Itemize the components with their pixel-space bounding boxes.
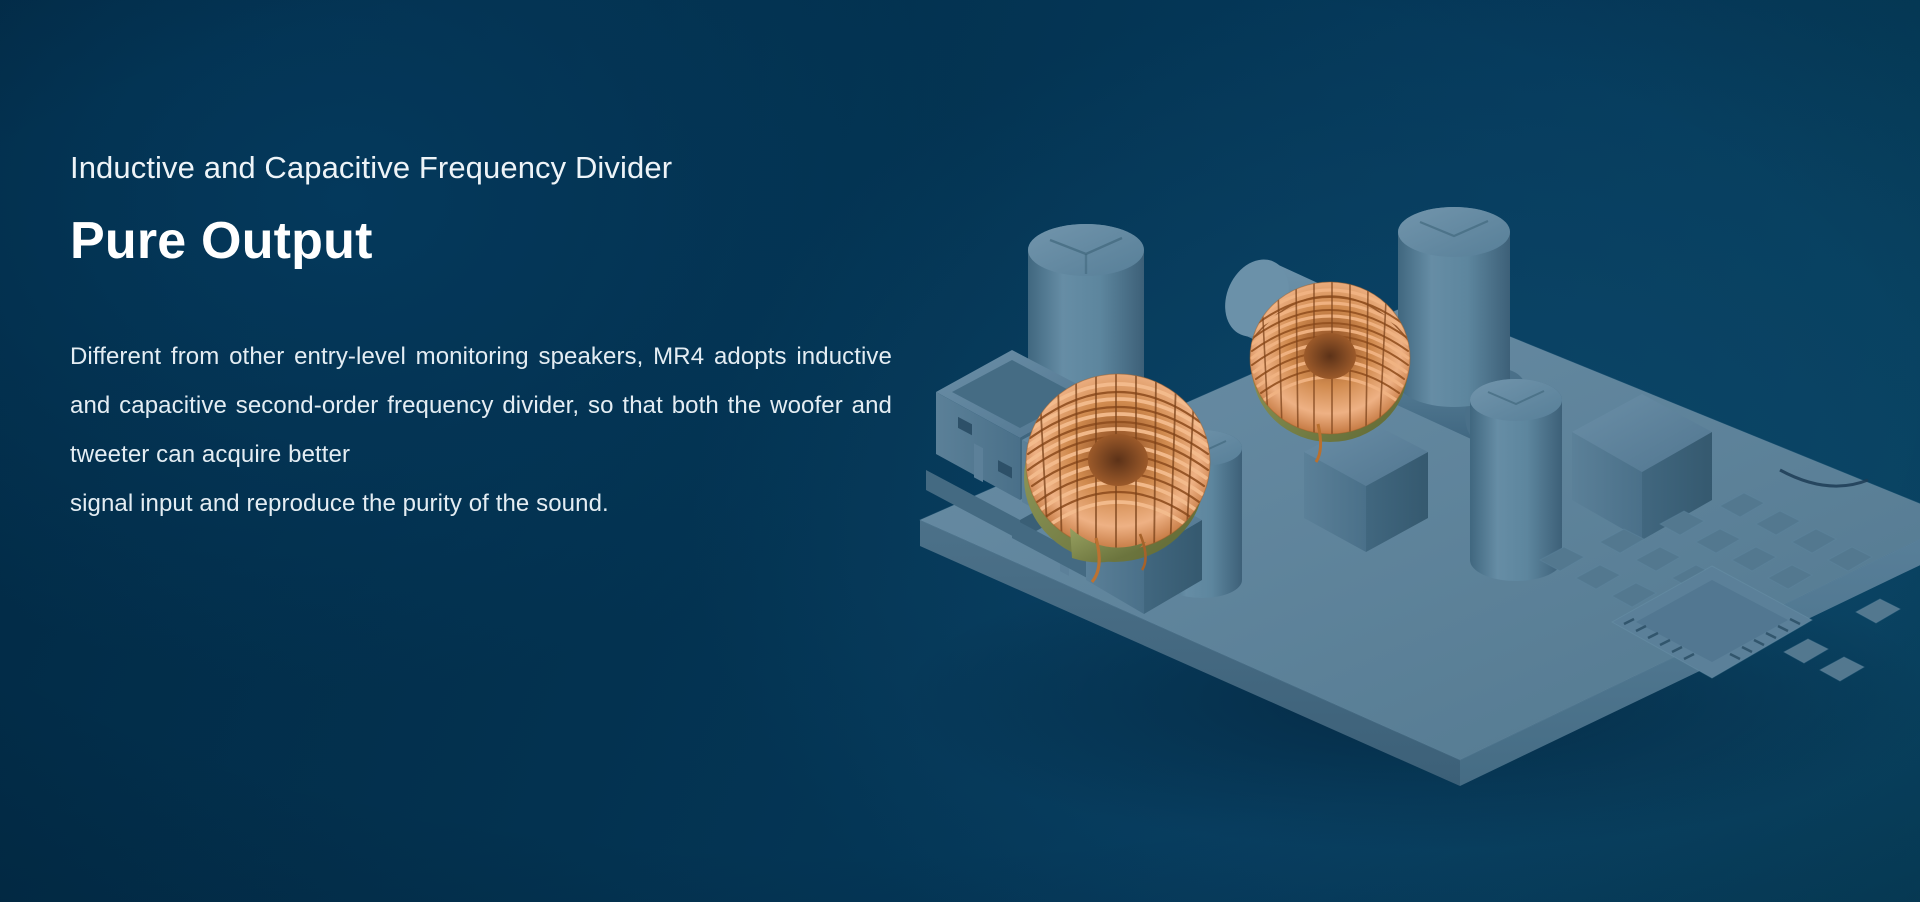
product-render-image xyxy=(910,0,1920,902)
paragraph-line: Different from other entry-level monitor… xyxy=(70,343,704,370)
description-paragraph: Different from other entry-level monitor… xyxy=(70,332,892,528)
hero-text-block: Inductive and Capacitive Frequency Divid… xyxy=(70,150,902,528)
electrolytic-capacitor-tall-right xyxy=(1398,207,1510,407)
page-title: Pure Output xyxy=(70,212,902,270)
eyebrow-subtitle: Inductive and Capacitive Frequency Divid… xyxy=(70,150,902,186)
electrolytic-capacitor-mid xyxy=(1470,379,1562,581)
paragraph-line: signal input and reproduce the purity of… xyxy=(70,479,892,528)
